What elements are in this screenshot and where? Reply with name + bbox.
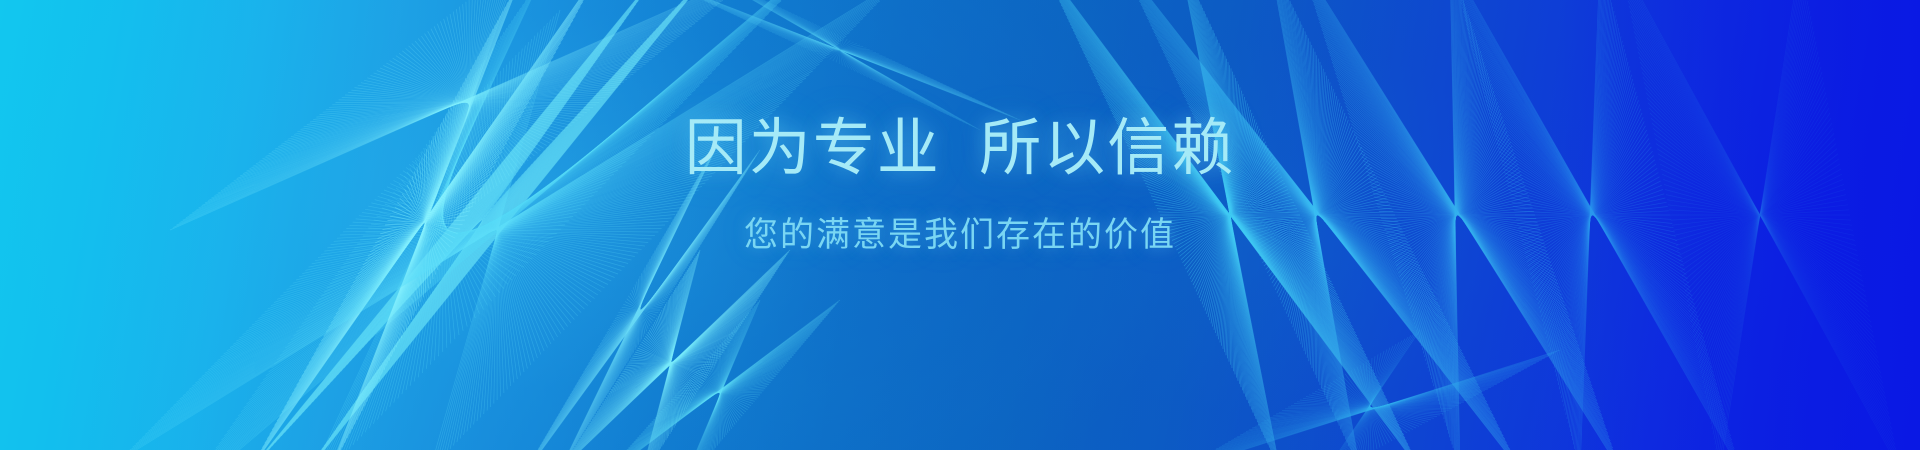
line-art-decoration bbox=[0, 0, 1920, 450]
hero-banner: 因为专业 所以信赖 您的满意是我们存在的价值 bbox=[0, 0, 1920, 450]
right-vignette bbox=[1560, 0, 1920, 450]
banner-text-block: 因为专业 所以信赖 您的满意是我们存在的价值 bbox=[0, 118, 1920, 252]
glow-right bbox=[0, 0, 1920, 450]
glow-center bbox=[0, 0, 1920, 450]
glow-left bbox=[0, 0, 1920, 450]
banner-headline: 因为专业 所以信赖 bbox=[0, 118, 1920, 180]
banner-subtitle: 您的满意是我们存在的价值 bbox=[0, 218, 1920, 252]
